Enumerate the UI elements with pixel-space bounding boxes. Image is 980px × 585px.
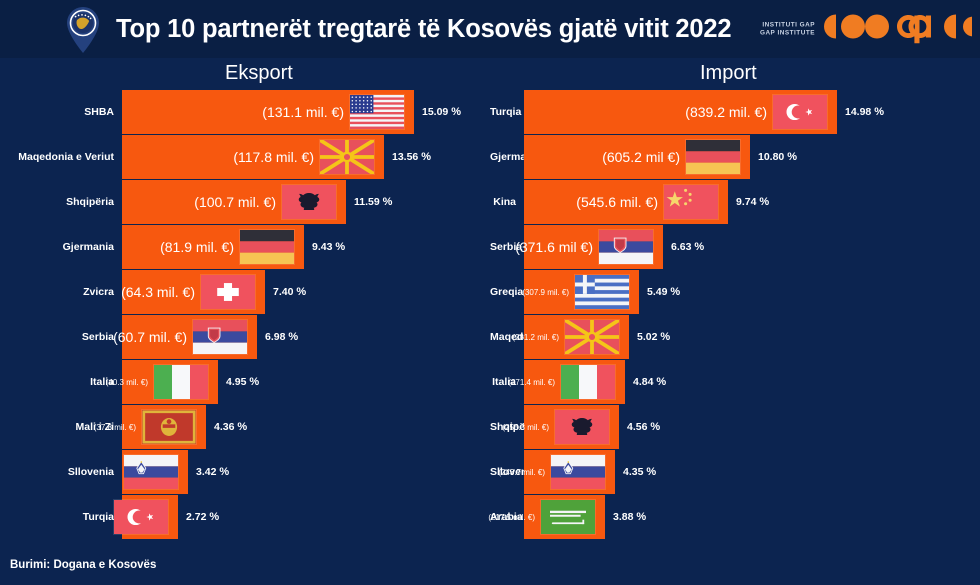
- brand-text: INSTITUTI GAP GAP INSTITUTE: [760, 22, 815, 37]
- percent-label: 5.02 %: [637, 331, 670, 343]
- bar-value-label: (131.1 mil. €): [262, 104, 350, 120]
- chart-row: Arabia Saudite(217.5 mil. €)3.88 %: [490, 495, 646, 539]
- percent-label: 9.74 %: [736, 196, 769, 208]
- chart-row: Serbia(371.6 mil €)6.63 %: [490, 225, 704, 269]
- percent-label: 3.42 %: [196, 466, 229, 478]
- chart-row: Sllovenia(243.7 mil. €)4.35 %: [490, 450, 656, 494]
- chart-row: Gjermania(605.2 mil €)10.80 %: [490, 135, 797, 179]
- al-flag: [282, 185, 341, 219]
- tr-flag: [114, 500, 173, 534]
- chart-row: Mali i Zi(37.8 mil. €)4.36 %: [0, 405, 247, 449]
- rs-flag: [193, 320, 252, 354]
- category-label: Turqia: [0, 511, 122, 523]
- value-bar: (281.2 mil. €): [524, 315, 629, 359]
- it-flag: [154, 365, 213, 399]
- chart-row: Kina(545.6 mil. €)9.74 %: [490, 180, 769, 224]
- value-bar: (255.3 mil. €): [524, 405, 619, 449]
- bar-value-label: (217.5 mil. €): [488, 513, 541, 522]
- chart-row: Shqipëria(100.7 mil. €)11.59 %: [0, 180, 392, 224]
- bar-value-label: (40.3 mil. €): [106, 378, 154, 387]
- value-bar: (243.7 mil. €): [524, 450, 615, 494]
- category-label: Italia: [0, 376, 122, 388]
- value-bar: (545.6 mil. €): [524, 180, 728, 224]
- de-flag: [240, 230, 299, 264]
- chart-row: Sllovenia3.42 %: [0, 450, 229, 494]
- bar-value-label: (243.7 mil. €): [498, 468, 551, 477]
- percent-label: 4.56 %: [627, 421, 660, 433]
- bar-value-label: (281.2 mil. €): [512, 333, 565, 342]
- percent-label: 15.09 %: [422, 106, 461, 118]
- percent-label: 11.59 %: [354, 196, 392, 208]
- si-flag: [124, 455, 183, 489]
- percent-label: 4.95 %: [226, 376, 259, 388]
- category-label: Gjermania: [490, 151, 524, 163]
- de-flag: [686, 140, 745, 174]
- mk-flag: [320, 140, 379, 174]
- kosovo-map-pin-icon: [62, 5, 104, 55]
- percent-label: 14.98 %: [845, 106, 884, 118]
- value-bar: (371.6 mil €): [524, 225, 663, 269]
- bar-value-label: (37.8 mil. €): [94, 423, 142, 432]
- chart-row: Italia(271.4 mil. €)4.84 %: [490, 360, 666, 404]
- bar-value-label: (839.2 mil. €): [685, 104, 773, 120]
- value-bar: (839.2 mil. €): [524, 90, 837, 134]
- value-bar: (37.8 mil. €): [122, 405, 206, 449]
- bar-value-label: (307.9 mil. €): [522, 288, 575, 297]
- chart-row: Maqedonia e Veriut(117.8 mil. €)13.56 %: [0, 135, 431, 179]
- sa-flag: [541, 500, 600, 534]
- gap-institute-logo: INSTITUTI GAP GAP INSTITUTE: [760, 10, 972, 49]
- brand-line-2: GAP INSTITUTE: [760, 29, 815, 36]
- si-flag: [551, 455, 610, 489]
- bar-value-label: (545.6 mil. €): [576, 194, 664, 210]
- chart-row: Italia(40.3 mil. €)4.95 %: [0, 360, 259, 404]
- category-label: Gjermania: [0, 241, 122, 253]
- percent-label: 6.98 %: [265, 331, 298, 343]
- value-bar: (117.8 mil. €): [122, 135, 384, 179]
- category-label: Maqedonia e Veriut: [0, 151, 122, 163]
- cn-flag: [664, 185, 723, 219]
- chart-row: Turqia2.72 %: [0, 495, 219, 539]
- percent-label: 4.84 %: [633, 376, 666, 388]
- category-label: Zvicra: [0, 286, 122, 298]
- category-label: Greqia: [490, 286, 524, 298]
- chart-row: SHBA(131.1 mil. €)15.09 %: [0, 90, 461, 134]
- category-label: SHBA: [0, 106, 122, 118]
- brand-line-1: INSTITUTI GAP: [760, 22, 815, 29]
- category-label: Kina: [490, 196, 524, 208]
- column-headings: Eksport Import: [0, 58, 980, 90]
- bar-value-label: (255.3 mil. €): [502, 423, 555, 432]
- percent-label: 6.63 %: [671, 241, 704, 253]
- bar-value-label: (64.3 mil. €): [121, 284, 201, 300]
- mk-flag: [565, 320, 624, 354]
- category-label: Serbia: [0, 331, 122, 343]
- value-bar: (64.3 mil. €): [122, 270, 265, 314]
- chart-row: Gjermania(81.9 mil. €)9.43 %: [0, 225, 345, 269]
- tr-flag: [773, 95, 832, 129]
- gap-wordmark-icon: [822, 10, 972, 49]
- category-label: Sllovenia: [0, 466, 122, 478]
- us-flag: [350, 95, 409, 129]
- percent-label: 3.88 %: [613, 511, 646, 523]
- chart-row: Serbia(60.7 mil. €)6.98 %: [0, 315, 298, 359]
- bar-value-label: (271.4 mil. €): [508, 378, 561, 387]
- percent-label: 4.36 %: [214, 421, 247, 433]
- bar-value-label: (100.7 mil. €): [194, 194, 282, 210]
- value-bar: (131.1 mil. €): [122, 90, 414, 134]
- page-title: Top 10 partnerët tregtarë të Kosovës gja…: [116, 15, 731, 44]
- value-bar: [122, 495, 178, 539]
- percent-label: 5.49 %: [647, 286, 680, 298]
- chart-row: Maqedonia e Veriut(281.2 mil. €)5.02 %: [490, 315, 670, 359]
- ch-flag: [201, 275, 260, 309]
- page-header: Top 10 partnerët tregtarë të Kosovës gja…: [0, 0, 980, 58]
- value-bar: (605.2 mil €): [524, 135, 750, 179]
- gr-flag: [575, 275, 634, 309]
- value-bar: (217.5 mil. €): [524, 495, 605, 539]
- percent-label: 13.56 %: [392, 151, 431, 163]
- it-flag: [561, 365, 620, 399]
- chart-panels: SHBA(131.1 mil. €)15.09 %Maqedonia e Ver…: [0, 90, 980, 537]
- value-bar: (40.3 mil. €): [122, 360, 218, 404]
- value-bar: (81.9 mil. €): [122, 225, 304, 269]
- value-bar: [122, 450, 188, 494]
- bar-value-label: (371.6 mil €): [515, 239, 599, 255]
- percent-label: 10.80 %: [758, 151, 797, 163]
- chart-row: Turqia(839.2 mil. €)14.98 %: [490, 90, 884, 134]
- percent-label: 7.40 %: [273, 286, 306, 298]
- percent-label: 2.72 %: [186, 511, 219, 523]
- rs-flag: [599, 230, 658, 264]
- category-label: Shqipëria: [0, 196, 122, 208]
- percent-label: 9.43 %: [312, 241, 345, 253]
- value-bar: (60.7 mil. €): [122, 315, 257, 359]
- me-flag: [142, 410, 201, 444]
- category-label: Turqia: [490, 106, 524, 118]
- chart-row: Shqipëria(255.3 mil. €)4.56 %: [490, 405, 660, 449]
- percent-label: 4.35 %: [623, 466, 656, 478]
- bar-value-label: (605.2 mil €): [602, 149, 686, 165]
- value-bar: (271.4 mil. €): [524, 360, 625, 404]
- value-bar: (307.9 mil. €): [524, 270, 639, 314]
- chart-row: Zvicra(64.3 mil. €)7.40 %: [0, 270, 306, 314]
- al-flag: [555, 410, 614, 444]
- bar-value-label: (81.9 mil. €): [160, 239, 240, 255]
- bar-value-label: (117.8 mil. €): [233, 149, 320, 165]
- chart-row: Greqia(307.9 mil. €)5.49 %: [490, 270, 680, 314]
- source-note: Burimi: Dogana e Kosovës: [10, 559, 156, 571]
- bar-value-label: (60.7 mil. €): [113, 329, 193, 345]
- column-heading-export: Eksport: [225, 62, 293, 85]
- column-heading-import: Import: [700, 62, 757, 85]
- value-bar: (100.7 mil. €): [122, 180, 346, 224]
